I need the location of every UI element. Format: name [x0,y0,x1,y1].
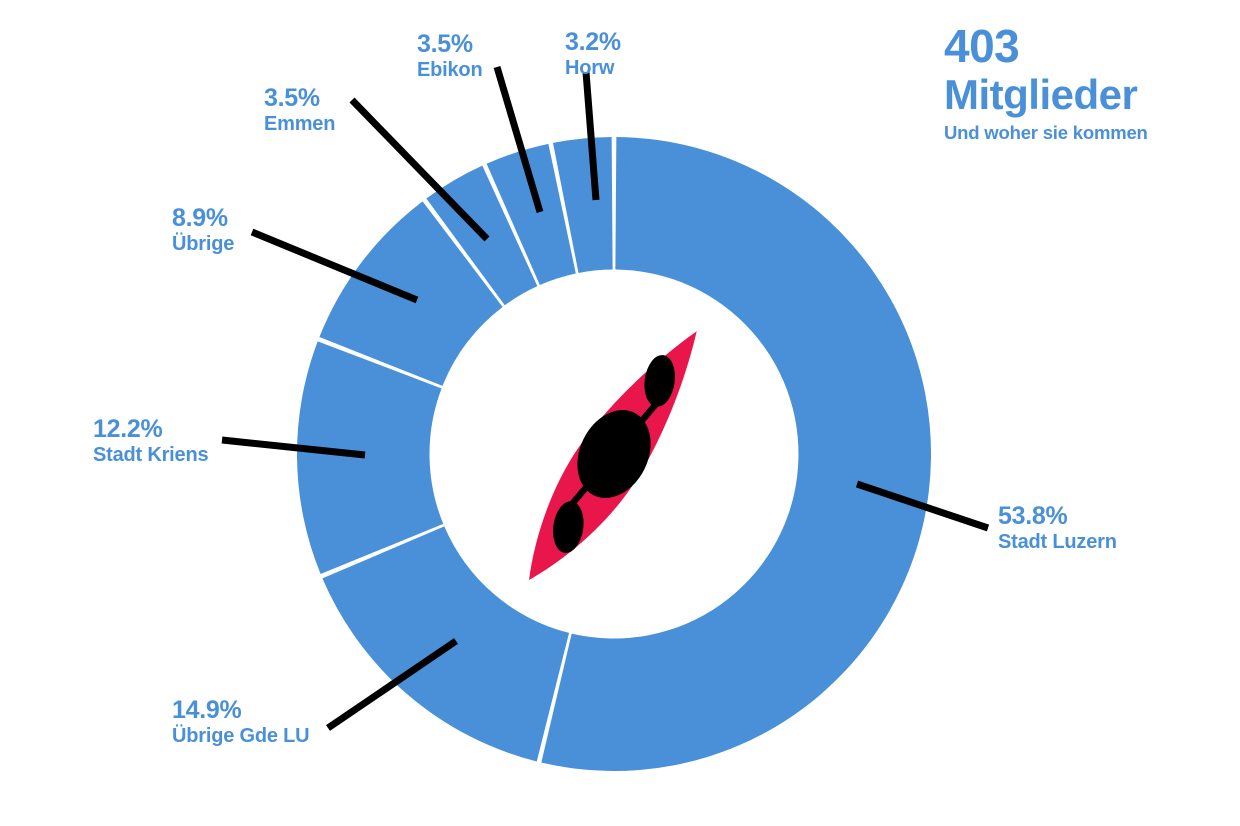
callout-horw-label: Horw [565,57,621,80]
callout-stadt-kriens-label: Stadt Kriens [93,444,208,467]
callout-emmen-label: Emmen [264,113,335,136]
callout-ebikon-label: Ebikon [417,59,482,82]
callout-horw-percent: 3.2% [565,28,621,57]
page-subtitle: Und woher sie kommen [944,121,1234,145]
callout-uebrige: 8.9% Übrige [172,204,234,256]
kayak-icon [496,309,730,603]
callout-ebikon: 3.5% Ebikon [417,30,482,82]
callout-emmen-percent: 3.5% [264,84,335,113]
callout-stadt-luzern-label: Stadt Luzern [998,531,1117,554]
callout-horw: 3.2% Horw [565,28,621,80]
member-count: 403 [944,22,1234,71]
callout-uebrige-percent: 8.9% [172,204,234,233]
chart-canvas: 403 Mitglieder Und woher sie kommen 3.5%… [0,0,1240,826]
callout-ebikon-percent: 3.5% [417,30,482,59]
callout-emmen: 3.5% Emmen [264,84,335,136]
callout-stadt-kriens: 12.2% Stadt Kriens [93,415,208,467]
callout-uebrige-gde-lu: 14.9% Übrige Gde LU [172,696,309,748]
callout-stadt-luzern: 53.8% Stadt Luzern [998,502,1117,554]
callout-uebrige-gde-lu-label: Übrige Gde LU [172,725,309,748]
callout-uebrige-label: Übrige [172,233,234,256]
page-title: Mitglieder [944,71,1234,118]
callout-stadt-kriens-percent: 12.2% [93,415,208,444]
title-block: 403 Mitglieder Und woher sie kommen [944,22,1234,145]
callout-stadt-luzern-percent: 53.8% [998,502,1117,531]
callout-uebrige-gde-lu-percent: 14.9% [172,696,309,725]
